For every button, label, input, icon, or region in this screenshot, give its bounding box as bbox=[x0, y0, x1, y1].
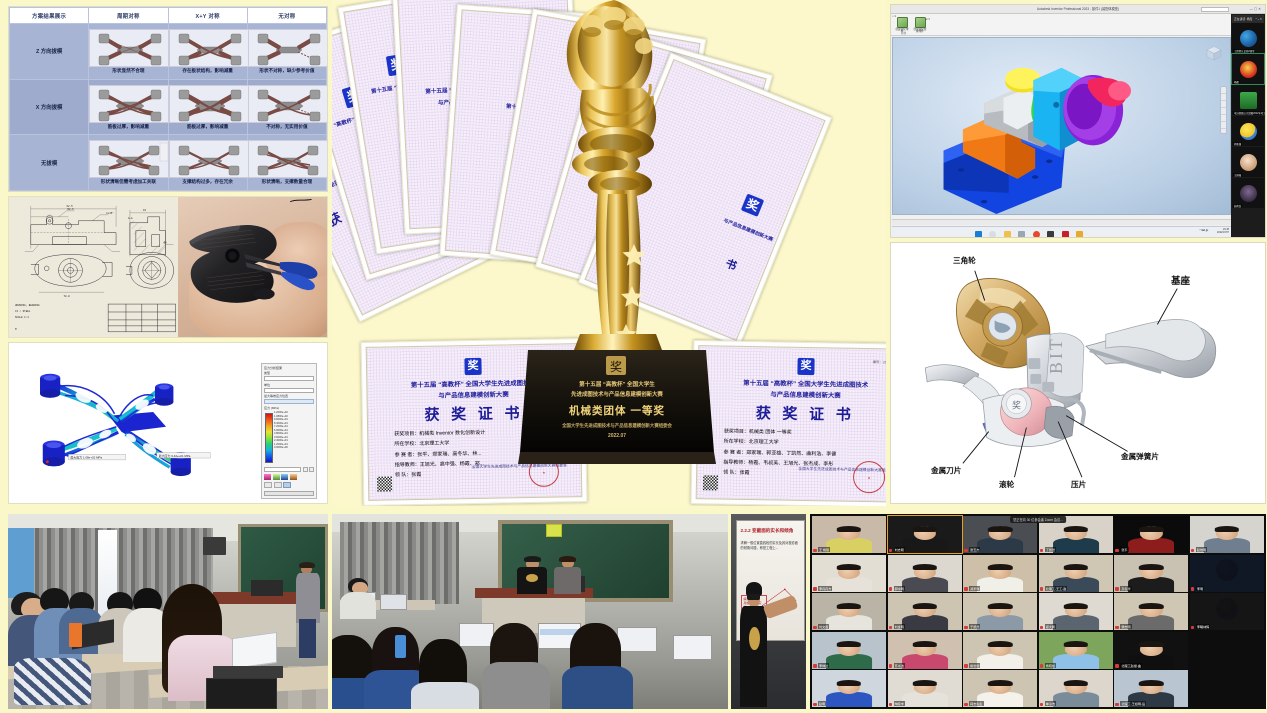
svg-text:R2.5: R2.5 bbox=[67, 208, 74, 211]
meeting-header-title: 正在讲话: 杨霞 bbox=[1234, 17, 1252, 21]
participant-avatar bbox=[1216, 598, 1238, 620]
truss-thumbnail bbox=[169, 140, 249, 178]
participant-name: 陶晓丰 bbox=[894, 701, 905, 706]
participant-tile-active[interactable]: 杨霞 bbox=[1232, 54, 1264, 84]
participant-body bbox=[826, 538, 872, 553]
participant-tile[interactable]: 刘志刚 bbox=[888, 516, 962, 553]
view-btn-1-icon[interactable] bbox=[264, 482, 272, 488]
participant-body bbox=[826, 615, 872, 630]
legend-btn-b[interactable] bbox=[309, 467, 314, 472]
field-label: 领 队： bbox=[723, 470, 739, 476]
search-icon[interactable] bbox=[989, 231, 996, 238]
presentation-photo: 2.2.2 变截面的实长和倾角 求解一般位置直线段的实长及其对投影面的倾角问题，… bbox=[731, 514, 806, 709]
fea-stress-analysis-panel: 最大应力 1.08e+02 MPa 最大应力 9.42e+01 MPa 应力分析… bbox=[8, 342, 328, 504]
legend-field-label-0: 类型 bbox=[264, 371, 314, 375]
start-icon[interactable] bbox=[975, 231, 982, 238]
participant-name: 工程师认识周2课堂 bbox=[1233, 49, 1255, 53]
scale-8: 2.4000e+01 bbox=[274, 439, 288, 443]
participant-avatar bbox=[1216, 559, 1238, 581]
window-titlebar: Autodesk Inventor Professional 2023 - 部件… bbox=[891, 5, 1265, 14]
slide-title: 2.2.2 变截面的实长和倾角 bbox=[741, 528, 794, 534]
participant-body bbox=[977, 577, 1023, 592]
participant-hair bbox=[837, 564, 861, 570]
mic-muted-icon bbox=[1191, 549, 1195, 553]
scale-6: 4.8000e+01 bbox=[274, 432, 288, 436]
participant-name: 王旭强 bbox=[1233, 173, 1242, 177]
window-controls[interactable]: — ▢ ✕ bbox=[1250, 7, 1261, 11]
participant-hair bbox=[912, 680, 936, 686]
roller-logo-mark: 奖 bbox=[1012, 400, 1021, 411]
ribbon-more-icon[interactable]: ⊞ ▾ bbox=[925, 17, 930, 21]
ribbon-toolbar: ⌂ ▾ 创建简化零件 创建简化替换零件 简化 ⊞ ▾ bbox=[891, 14, 1265, 36]
view-tool-orbit-icon[interactable] bbox=[1221, 101, 1226, 108]
legend-display-row bbox=[264, 474, 314, 480]
podium-monitor bbox=[251, 580, 283, 596]
truss-thumbnail bbox=[248, 85, 328, 123]
presenter-body bbox=[740, 606, 767, 707]
participant-tile[interactable]: 高冬华 bbox=[1114, 555, 1188, 592]
participant-grid: 王 艳丽刘志刚张玉杰丁凯然张平赵效明李丹丹方郝中明郑家瑞北理工-王工-赵高冬华李… bbox=[812, 516, 1264, 707]
participant-tile[interactable]: 郑家瑞 bbox=[963, 555, 1037, 592]
svg-text:M: M bbox=[15, 328, 17, 331]
zoom-meeting-gallery: 您正在向 30 位参会者 Zoom 会议... 王 艳丽刘志刚张玉杰丁凯然张平赵… bbox=[810, 514, 1266, 709]
field-label: 指导教师： bbox=[395, 462, 420, 468]
cell-1-2: 不对称，无实用价值 bbox=[247, 79, 326, 135]
mic-muted-icon bbox=[964, 664, 968, 668]
participant-name: 刘志刚 bbox=[894, 547, 905, 552]
cartoon-avatar bbox=[1240, 61, 1257, 78]
legend-toolbar bbox=[264, 467, 314, 472]
cert-no-value: 2022-GS-0217 bbox=[883, 360, 886, 364]
presentation-scene: 2.2.2 变截面的实长和倾角 求解一般位置直线段的实长及其对投影面的倾角问题，… bbox=[731, 514, 806, 709]
status-bar: 就绪 1 个零件已选择 部件1 ▾ bbox=[892, 219, 1231, 225]
participant-body bbox=[902, 538, 948, 553]
probe-label-0: 最大应力 1.08e+02 MPa bbox=[70, 455, 102, 460]
instructor-legs bbox=[299, 619, 317, 658]
participant-hair bbox=[912, 641, 936, 647]
participant-name: 于凯然 bbox=[969, 624, 980, 629]
official-seal: ★ bbox=[853, 461, 886, 494]
view-tool-pan-icon[interactable] bbox=[1221, 94, 1226, 101]
cable-icon bbox=[252, 197, 327, 239]
truss-render-icon bbox=[90, 86, 169, 123]
participant-hair bbox=[988, 526, 1012, 532]
explorer-icon[interactable] bbox=[1004, 231, 1011, 238]
title-block-line-1: CI / STEEL bbox=[15, 309, 31, 313]
laptop-keyboard bbox=[213, 666, 283, 678]
cell-caption: 支撑结构过多，存在冗余 bbox=[169, 179, 247, 185]
display-mode-2-icon[interactable] bbox=[273, 474, 280, 480]
truss-thumbnail bbox=[169, 85, 249, 123]
participant-tile[interactable]: 刘金明 bbox=[888, 593, 962, 630]
view-tool-look-icon[interactable] bbox=[1221, 108, 1226, 115]
view-tool-style-icon[interactable] bbox=[1221, 115, 1226, 122]
participant-body bbox=[826, 692, 872, 707]
participant-tile[interactable]: 刘文昌 bbox=[812, 593, 886, 630]
participant-tile[interactable]: 姚世健 bbox=[963, 632, 1037, 669]
plaque-date: 2022.07 bbox=[526, 433, 708, 439]
participant-tile[interactable]: 赵明 bbox=[812, 670, 886, 707]
participant-tile[interactable]: 李明 bbox=[1190, 555, 1264, 592]
participant-body bbox=[1053, 538, 1099, 553]
windows-taskbar: 20:48 2022/07/07 ^ ⌨ 🔊 bbox=[892, 226, 1231, 237]
participant-hair bbox=[1139, 641, 1163, 647]
meeting-window-controls[interactable]: ⌃⌄✕ bbox=[1255, 17, 1262, 21]
field-label: 参 赛 者： bbox=[395, 451, 418, 457]
navigation-cube-icon[interactable] bbox=[1204, 44, 1224, 62]
participant-tile[interactable]: 陶晓丰 bbox=[888, 670, 962, 707]
truss-render-icon bbox=[170, 86, 249, 123]
legend-btn-a[interactable] bbox=[303, 467, 308, 472]
participant-tile[interactable]: 赵效明 bbox=[1190, 516, 1264, 553]
monitor bbox=[459, 623, 495, 646]
plaque-line-1: 第十五届 “高教杯” 全国大学生 bbox=[526, 380, 708, 388]
participant-body bbox=[1128, 615, 1174, 630]
fea-viewport: 最大应力 1.08e+02 MPa 最大应力 9.42e+01 MPa 应力分析… bbox=[13, 347, 323, 499]
title-block-line-2: SCALE 1:1 bbox=[15, 316, 29, 319]
mic-muted-icon bbox=[1040, 549, 1044, 553]
mic-muted-icon bbox=[1040, 626, 1044, 630]
coat-on-chair bbox=[14, 658, 91, 705]
field-value: 张霞 bbox=[411, 472, 421, 478]
scale-4: 7.2000e+01 bbox=[274, 425, 288, 429]
printed-part-photo bbox=[178, 197, 327, 337]
monitor bbox=[380, 594, 408, 610]
window-blue-panel bbox=[8, 528, 34, 598]
participant-name: 北理工-王旭明-后 bbox=[1120, 701, 1146, 706]
mic-muted-icon bbox=[1115, 587, 1119, 591]
legend-scale-title: 应力 (MPa) bbox=[264, 406, 314, 410]
lab-scene bbox=[332, 514, 728, 709]
participant-body bbox=[977, 654, 1023, 669]
participant-hair bbox=[1064, 641, 1088, 647]
meeting-header: 正在讲话: 杨霞 ⌃⌄✕ bbox=[1232, 15, 1264, 23]
legend-field-value-0[interactable] bbox=[264, 376, 314, 381]
participant-hair bbox=[912, 603, 936, 609]
participant-name: 单冷浩 bbox=[1045, 701, 1056, 706]
truss-render-icon bbox=[90, 30, 169, 67]
truss-thumbnail bbox=[89, 29, 169, 67]
col-header-2: 无对称 bbox=[247, 8, 326, 24]
field-value: 机械类 团体 一等奖 bbox=[749, 429, 792, 436]
certificate-line-2: 与产品信息建模创新大赛 bbox=[770, 389, 840, 399]
label-metal-spring: 金属弹簧片 bbox=[1121, 451, 1159, 462]
participant-name: 郑家瑞 bbox=[969, 586, 980, 591]
participant-body bbox=[977, 692, 1023, 707]
mic-muted-icon bbox=[1040, 703, 1044, 707]
participant-hair bbox=[1139, 526, 1163, 532]
mic-muted-icon bbox=[964, 626, 968, 630]
title-block-line-0: HOUSING, BEARING bbox=[15, 304, 40, 307]
participant-hair bbox=[1139, 564, 1163, 570]
participant-tile[interactable]: 北理工-王工-赵 bbox=[1039, 555, 1113, 592]
field-value: 北京理工大学 bbox=[749, 439, 779, 446]
certificate-inner: 奖 编号：2022-GS-0217 第十五届 “高教杯” 全国大学生先进成图技术… bbox=[696, 345, 886, 503]
tray-icons[interactable]: ^ ⌨ 🔊 bbox=[1199, 229, 1209, 232]
field-row: 领 队：张霞 bbox=[395, 469, 486, 481]
participant-tile[interactable]: 北理工-王旭明-后 bbox=[1114, 670, 1188, 707]
participant-tile[interactable]: 杨晓旭 bbox=[1039, 632, 1113, 669]
participant-hair bbox=[1215, 526, 1239, 532]
truss-render-icon bbox=[170, 30, 249, 67]
poster-collage: 方案结果展示 周期对称 X+Y 对称 无对称 Z 方向拔模 bbox=[0, 0, 1267, 713]
drink-cup bbox=[69, 623, 82, 646]
mic-muted-icon bbox=[889, 703, 893, 707]
participant-tile[interactable]: 郝中明 bbox=[888, 555, 962, 592]
drawing-and-print-panel: 62.5 34 bbox=[8, 196, 328, 338]
field-value: 张平、郑家瑞、高冬华、林... bbox=[417, 450, 481, 457]
search-input[interactable] bbox=[1201, 7, 1229, 12]
mic-muted-icon bbox=[813, 587, 817, 591]
cad-model-icon bbox=[893, 38, 1230, 214]
legend-field-value-1[interactable] bbox=[264, 388, 314, 393]
scale-2: 9.6000e+01 bbox=[274, 418, 288, 422]
cell-caption: 筋板过厚，影响减重 bbox=[89, 124, 167, 130]
participant-tile[interactable]: 王旭强 bbox=[1232, 147, 1264, 177]
chrome-icon[interactable] bbox=[1033, 231, 1040, 238]
cad-viewport[interactable] bbox=[892, 37, 1231, 215]
cell-0-0: 形状显然不合理 bbox=[89, 24, 168, 80]
wall-notice bbox=[546, 524, 562, 538]
participant-name: 刘文昌 bbox=[818, 624, 829, 629]
table-row: X 方向拔模 筋板过厚，影 bbox=[10, 79, 327, 135]
instructor-body bbox=[296, 573, 320, 624]
participant-tile[interactable]: 郑大鹏 bbox=[1039, 593, 1113, 630]
participant-hair bbox=[988, 564, 1012, 570]
participant-hair bbox=[1064, 603, 1088, 609]
classroom-photo bbox=[8, 514, 328, 709]
participant-tile[interactable]: 北理工赵斌-曲 bbox=[1114, 632, 1188, 669]
cell-1-1: 筋板过厚，影响减重 bbox=[168, 79, 247, 135]
symmetry-table: 方案结果展示 周期对称 X+Y 对称 无对称 Z 方向拔模 bbox=[9, 7, 327, 191]
row-header-1: X 方向拔模 bbox=[10, 79, 89, 135]
participant-name: 刘金明 bbox=[894, 624, 905, 629]
symmetry-comparison-table-panel: 方案结果展示 周期对称 X+Y 对称 无对称 Z 方向拔模 bbox=[8, 6, 328, 192]
mic-muted-icon bbox=[1040, 664, 1044, 668]
label-roller: 滚轮 bbox=[999, 479, 1014, 490]
participant-body bbox=[1053, 692, 1099, 707]
legend-colorbar-row: 1.2000e+02 1.0800e+02 9.6000e+01 8.4000e… bbox=[264, 411, 314, 465]
cell-0-2: 形状不对称，缺少参考价值 bbox=[247, 24, 326, 80]
participant-tile[interactable]: 韩志先生 bbox=[963, 670, 1037, 707]
media-icon[interactable] bbox=[1062, 231, 1069, 238]
participant-name: 北理工-王工-赵 bbox=[1045, 586, 1068, 591]
participant-name: 郭亚雄 bbox=[1233, 142, 1242, 146]
participant-hair bbox=[912, 526, 936, 532]
participant-name: 侯志明 bbox=[1120, 624, 1131, 629]
participant-body bbox=[902, 577, 948, 592]
meeting-participant-strip: 正在讲话: 杨霞 ⌃⌄✕ 工程师认识周2课堂 杨霞 电分组图公示组图2022年哈… bbox=[1231, 14, 1265, 237]
fea-model-icon: 最大应力 1.08e+02 MPa 最大应力 9.42e+01 MPa bbox=[17, 353, 247, 495]
participant-name: 曲利浩 bbox=[1233, 204, 1242, 208]
view-btn-2-icon[interactable] bbox=[274, 482, 282, 488]
participant-tile[interactable]: 张平 bbox=[1114, 516, 1188, 553]
taskbar-clock[interactable]: 20:48 2022/07/07 bbox=[1217, 228, 1229, 234]
mic-muted-icon bbox=[889, 549, 893, 553]
participant-tile[interactable]: 李丹丹方 bbox=[812, 555, 886, 592]
truss-thumbnail bbox=[248, 29, 328, 67]
participant-hair bbox=[988, 680, 1012, 686]
label-metal-blade: 金属刀片 bbox=[931, 465, 961, 476]
mic-muted-icon bbox=[1191, 587, 1195, 591]
cell-1-0: 筋板过厚，影响减重 bbox=[89, 79, 168, 135]
participant-hair bbox=[837, 680, 861, 686]
participant-tile[interactable]: 苏书洁 bbox=[888, 632, 962, 669]
truss-render-icon bbox=[170, 141, 249, 178]
truss-render-icon bbox=[90, 141, 169, 178]
col-header-1: X+Y 对称 bbox=[168, 8, 247, 24]
office-icon[interactable] bbox=[1076, 231, 1083, 238]
participant-hair bbox=[837, 526, 861, 532]
svg-text:78.0: 78.0 bbox=[64, 295, 71, 298]
plaque-text-block: 第十五届 “高教杯” 全国大学生 先进成图技术与产品信息建模创新大赛 机械类团体… bbox=[526, 380, 708, 439]
plaque-logo: 奖 bbox=[610, 360, 622, 374]
participant-tile[interactable] bbox=[1190, 632, 1264, 669]
participant-name: 北理工赵斌-曲 bbox=[1120, 663, 1142, 668]
legend-view-row bbox=[264, 482, 314, 488]
view-btn-3-icon[interactable] bbox=[283, 482, 291, 488]
participant-hair bbox=[1064, 680, 1088, 686]
mic-muted-icon bbox=[889, 587, 893, 591]
certificate-number: 编号：2022-GS-0217 bbox=[873, 359, 886, 365]
field-label: 获奖项目： bbox=[394, 431, 419, 437]
participant-body bbox=[1128, 577, 1174, 592]
svg-text:Ø6: Ø6 bbox=[164, 241, 168, 245]
svg-text:34: 34 bbox=[143, 209, 147, 212]
table-header-row: 方案结果展示 周期对称 X+Y 对称 无对称 bbox=[10, 8, 327, 24]
mic-muted-icon bbox=[889, 626, 893, 630]
mic-muted-icon bbox=[813, 549, 817, 553]
legend-panel-title: 应力分析结果 bbox=[264, 366, 314, 370]
label-pressing-plate: 压片 bbox=[1071, 479, 1086, 490]
participant-name: 姚世健 bbox=[969, 663, 980, 668]
view-tool-zoom-icon[interactable] bbox=[1221, 87, 1226, 94]
participant-tile[interactable] bbox=[1190, 670, 1264, 707]
plaque-line-2: 先进成图技术与产品信息建模创新大赛 bbox=[526, 390, 708, 398]
participant-body bbox=[826, 577, 872, 592]
earth-avatar bbox=[1240, 30, 1257, 47]
assembly-render-icon: BIT 奖 bbox=[891, 243, 1265, 503]
photo-avatar bbox=[1240, 185, 1257, 202]
certificates-and-trophy-panel: 奖 “高教杯” 全国大学生 获 奖 证 书 奖 “高教杯” 全国大学生 奖 第十… bbox=[332, 0, 886, 506]
legend-select[interactable] bbox=[264, 467, 301, 472]
presenter-hair bbox=[524, 556, 541, 562]
annotated-assembly-panel: BIT 奖 bbox=[890, 242, 1266, 504]
view-tool-shadow-icon[interactable] bbox=[1221, 122, 1226, 129]
participant-name: 李明 bbox=[1196, 586, 1204, 591]
participant-name: 郑大鹏 bbox=[1045, 624, 1056, 629]
participant-tile[interactable]: 电分组图公示组图2022年哈工大同学 bbox=[1232, 85, 1264, 115]
cell-2-2: 形状清晰，支撑数量合理 bbox=[247, 135, 326, 191]
mic-muted-icon bbox=[1115, 664, 1119, 668]
participant-tile[interactable]: 侯志明 bbox=[1114, 593, 1188, 630]
participant-name: 李丹丹方 bbox=[818, 586, 832, 591]
participant-name: 丁凯然 bbox=[1045, 547, 1056, 552]
participant-name: 王 艳丽 bbox=[818, 547, 830, 552]
participant-tile[interactable]: 工程师认识周2课堂 bbox=[1232, 23, 1264, 53]
cell-caption: 形状清晰，支撑数量合理 bbox=[248, 179, 326, 185]
field-value: 郑家瑞、郭亚雄、丁凯然、曲利浩、李健 bbox=[746, 449, 836, 457]
truss-thumbnail bbox=[89, 85, 169, 123]
table-row: 无拔模 形状清晰但需考虑加 bbox=[10, 135, 327, 191]
legend-result-label: 最大等效应力位置 bbox=[264, 394, 314, 398]
participant-tile[interactable]: 李曙林辉 bbox=[1190, 593, 1264, 630]
participant-body bbox=[826, 654, 872, 669]
participant-tile[interactable]: 王 艳丽 bbox=[812, 516, 886, 553]
legend-close-button[interactable] bbox=[264, 491, 314, 496]
engineering-drawing: 62.5 34 bbox=[9, 197, 178, 337]
field-label: 参 赛 者： bbox=[723, 449, 746, 455]
plaque-issuer: 全国大学生先进成图技术与产品信息建模创新大赛组委会 bbox=[526, 423, 708, 429]
chair-back bbox=[206, 678, 276, 709]
competition-logo: 奖 bbox=[797, 358, 814, 375]
participant-body bbox=[902, 615, 948, 630]
participant-hair bbox=[988, 641, 1012, 647]
legend-result-field[interactable] bbox=[264, 399, 314, 404]
display-mode-1-icon[interactable] bbox=[264, 474, 271, 480]
student-body bbox=[482, 662, 549, 709]
field-value: 杨霞、韦叔芙、王旭光、张杰成、李彤 bbox=[748, 460, 833, 467]
participant-tile[interactable]: 单冷浩 bbox=[1039, 670, 1113, 707]
participant-tile[interactable]: 于凯然 bbox=[963, 593, 1037, 630]
mic-muted-icon bbox=[813, 626, 817, 630]
truss-thumbnail bbox=[89, 140, 169, 178]
cert-no-label: 编号： bbox=[873, 360, 883, 364]
participant-tile[interactable]: 李仲达 bbox=[812, 632, 886, 669]
field-label: 获奖项目： bbox=[724, 429, 749, 435]
participant-name: 张玉杰 bbox=[969, 547, 980, 552]
mic-muted-icon bbox=[813, 664, 817, 668]
display-mode-4-icon[interactable] bbox=[290, 474, 297, 480]
competition-logo: 奖 bbox=[741, 193, 764, 216]
participant-name: 赵效明 bbox=[1196, 547, 1207, 552]
slide-body: 求解一般位置直线段的实长及其对投影面的倾角问题，即是工程上... bbox=[741, 541, 800, 550]
monitor bbox=[673, 635, 713, 660]
participant-tile[interactable]: 曲利浩 bbox=[1232, 178, 1264, 208]
inventor-icon[interactable] bbox=[1047, 231, 1054, 238]
cell-caption: 形状不对称，缺少参考价值 bbox=[248, 68, 326, 74]
scale-min: 0.0000e+00 bbox=[274, 446, 288, 450]
field-label: 所在学校： bbox=[724, 439, 749, 445]
certificate-title: 获 奖 证 书 bbox=[424, 402, 523, 425]
truss-thumbnail bbox=[248, 140, 328, 178]
field-label: 所在学校： bbox=[394, 441, 419, 447]
field-label: 领 队： bbox=[395, 472, 411, 478]
instructor2-hair bbox=[559, 556, 576, 562]
svg-text:1x45°: 1x45° bbox=[106, 211, 114, 215]
display-mode-3-icon[interactable] bbox=[281, 474, 288, 480]
table-row: Z 方向拔模 形状显然不合 bbox=[10, 24, 327, 80]
instructor2-body bbox=[554, 567, 582, 594]
cell-0-1: 存在板状结构，影响减重 bbox=[168, 24, 247, 80]
app-icon[interactable] bbox=[1018, 231, 1025, 238]
zoom-toast-notification: 您正在向 30 位参会者 Zoom 会议... bbox=[1010, 516, 1066, 523]
ribbon-group-label: 简化 bbox=[901, 31, 906, 35]
instructor-hair bbox=[299, 562, 315, 568]
certificate-title: 书 bbox=[723, 255, 742, 275]
view-tools-bar[interactable] bbox=[1220, 86, 1227, 134]
truss-render-icon bbox=[249, 30, 328, 67]
wall-speaker bbox=[203, 537, 225, 555]
field-value: 机械类 Inventor 数化创新设计 bbox=[419, 430, 485, 437]
mic-muted-icon bbox=[1191, 626, 1195, 630]
participant-body bbox=[1053, 654, 1099, 669]
truss-render-icon bbox=[249, 141, 328, 178]
certificate-line-2: 与产品信息建模创新大赛 bbox=[723, 217, 775, 243]
monitor bbox=[617, 627, 657, 652]
participant-tile[interactable]: 郭亚雄 bbox=[1232, 116, 1264, 146]
probe-label-1: 最大应力 9.42e+01 MPa bbox=[159, 453, 191, 458]
